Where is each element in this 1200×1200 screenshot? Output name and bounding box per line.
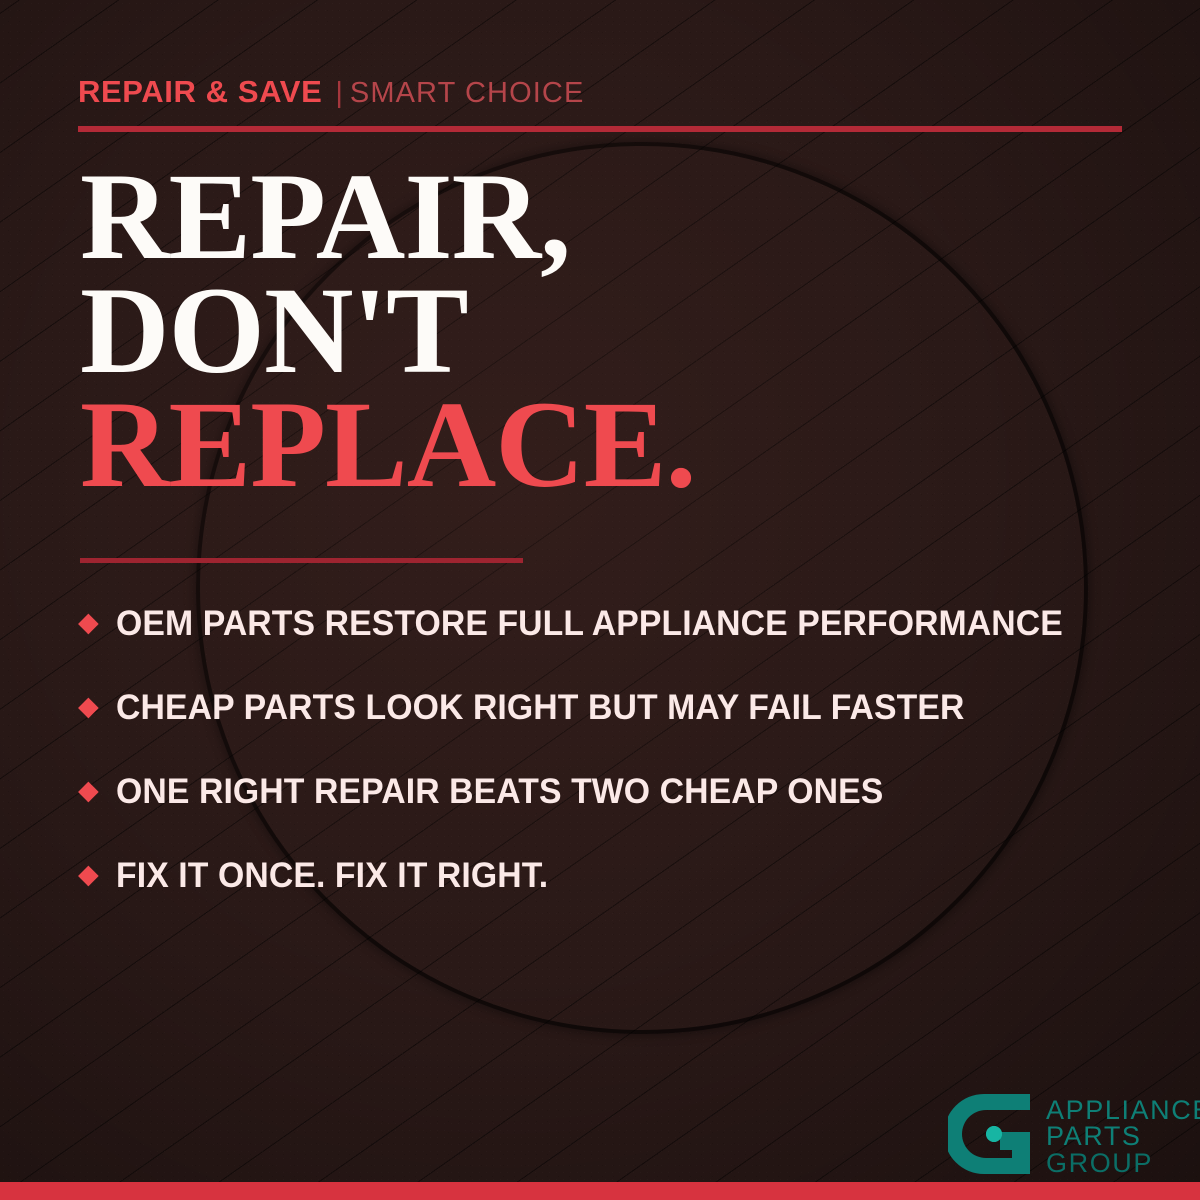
brand-word-appliance: APPLIANCE	[1046, 1097, 1200, 1123]
list-item: ◆ FIX IT ONCE. FIX IT RIGHT.	[78, 834, 1148, 918]
brand-word-parts: PARTS	[1046, 1123, 1200, 1149]
eyebrow: REPAIR & SAVE | SMART CHOICE	[78, 74, 584, 110]
eyebrow-sub-label: SMART CHOICE	[350, 77, 585, 110]
diamond-bullet-icon: ◆	[78, 693, 99, 720]
diamond-bullet-icon: ◆	[78, 777, 99, 804]
headline-line-3: REPLACE.	[80, 388, 696, 502]
list-item-label: OEM PARTS RESTORE FULL APPLIANCE PERFORM…	[116, 604, 1063, 644]
list-item: ◆ OEM PARTS RESTORE FULL APPLIANCE PERFO…	[78, 582, 1148, 666]
list-item: ◆ ONE RIGHT REPAIR BEATS TWO CHEAP ONES	[78, 750, 1148, 834]
poster-canvas: REPAIR & SAVE | SMART CHOICE REPAIR, DON…	[0, 0, 1200, 1200]
eyebrow-separator: |	[335, 77, 343, 110]
headline-line-2: DON'T	[80, 274, 696, 388]
list-item: ◆ CHEAP PARTS LOOK RIGHT BUT MAY FAIL FA…	[78, 666, 1148, 750]
diamond-bullet-icon: ◆	[78, 609, 99, 636]
appliance-parts-group-g-mark-icon	[948, 1092, 1034, 1181]
headline-divider-rule	[80, 558, 523, 563]
page-title: REPAIR, DON'T REPLACE.	[80, 160, 696, 502]
list-item-label: ONE RIGHT REPAIR BEATS TWO CHEAP ONES	[116, 772, 883, 812]
brand-wordmark: APPLIANCE PARTS GROUP	[1046, 1097, 1200, 1176]
headline-line-1: REPAIR,	[80, 160, 696, 274]
eyebrow-main-label: REPAIR & SAVE	[78, 74, 322, 110]
header-rule	[78, 126, 1122, 132]
footer-accent-strip	[0, 1182, 1200, 1200]
list-item-label: CHEAP PARTS LOOK RIGHT BUT MAY FAIL FAST…	[116, 688, 965, 728]
benefit-list: ◆ OEM PARTS RESTORE FULL APPLIANCE PERFO…	[78, 582, 1148, 918]
list-item-label: FIX IT ONCE. FIX IT RIGHT.	[116, 856, 548, 896]
brand-word-group: GROUP	[1046, 1150, 1200, 1176]
brand-logo: APPLIANCE PARTS GROUP	[948, 1092, 1200, 1181]
diamond-bullet-icon: ◆	[78, 861, 99, 888]
